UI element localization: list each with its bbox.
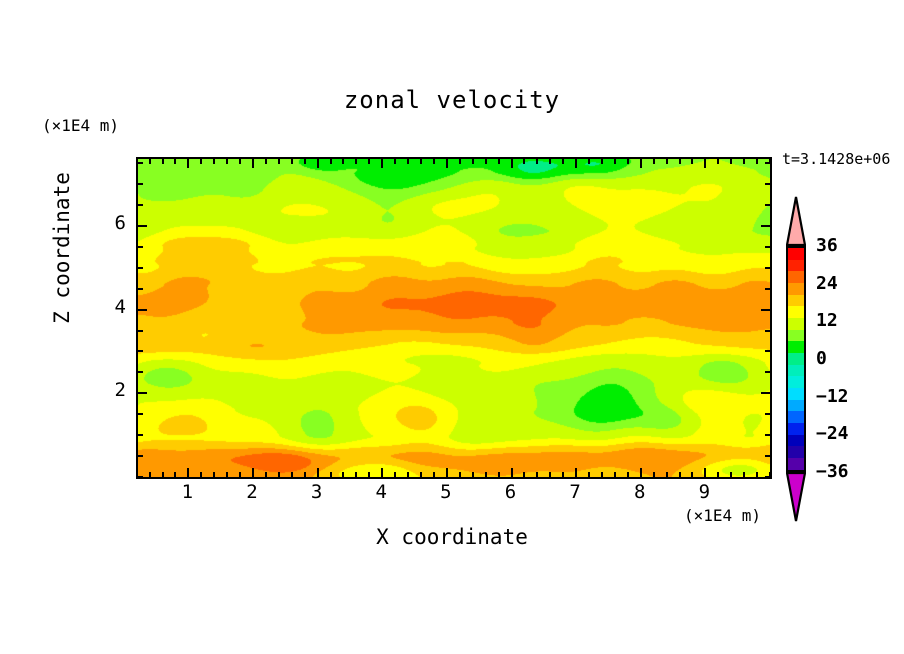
x-tick-minor	[614, 472, 616, 477]
y-tick-minor	[138, 330, 143, 332]
x-tick-major	[511, 468, 513, 477]
x-tick-minor	[653, 472, 655, 477]
x-tick-major	[575, 159, 577, 168]
x-tick-minor	[730, 472, 732, 477]
x-tick-major	[252, 159, 254, 168]
x-tick-minor	[342, 472, 344, 477]
x-tick-minor	[355, 472, 357, 477]
y-tick-minor	[138, 183, 143, 185]
colorbar-band	[788, 353, 804, 365]
x-tick-minor	[549, 472, 551, 477]
x-tick-minor	[355, 159, 357, 164]
x-tick-minor	[691, 472, 693, 477]
y-tick-major	[138, 225, 147, 227]
y-tick-minor	[138, 246, 143, 248]
x-tick-minor	[523, 159, 525, 164]
x-tick-minor	[149, 159, 151, 164]
x-tick-minor	[562, 472, 564, 477]
x-tick-major	[640, 468, 642, 477]
x-tick-major	[252, 468, 254, 477]
x-tick-minor	[756, 472, 758, 477]
x-tick-minor	[536, 472, 538, 477]
x-tick-minor	[588, 159, 590, 164]
x-tick-major	[381, 468, 383, 477]
x-tick-minor	[330, 159, 332, 164]
y-tick-major	[138, 392, 147, 394]
x-tick-minor	[162, 472, 164, 477]
y-tick-minor	[138, 162, 143, 164]
x-ticklabel: 9	[684, 481, 724, 503]
y-tick-minor	[765, 434, 770, 436]
x-tick-minor	[666, 472, 668, 477]
y-tick-minor	[138, 288, 143, 290]
x-tick-minor	[472, 159, 474, 164]
x-ticklabel: 4	[361, 481, 401, 503]
x-tick-major	[381, 159, 383, 168]
x-tick-minor	[394, 159, 396, 164]
y-ticklabel: 4	[86, 296, 126, 318]
y-tick-minor	[765, 267, 770, 269]
colorbar-band	[788, 306, 804, 318]
x-tick-minor	[498, 472, 500, 477]
contour-plot-area	[136, 157, 772, 479]
x-tick-minor	[485, 472, 487, 477]
x-ticklabel: 7	[555, 481, 595, 503]
x-tick-major	[511, 159, 513, 168]
x-tick-minor	[265, 159, 267, 164]
x-ticklabel: 1	[167, 481, 207, 503]
colorbar-band	[788, 330, 804, 342]
colorbar-band	[788, 435, 804, 447]
x-tick-minor	[549, 159, 551, 164]
page-title: zonal velocity	[0, 86, 904, 114]
x-tick-minor	[291, 472, 293, 477]
x-tick-minor	[304, 472, 306, 477]
x-tick-major	[446, 159, 448, 168]
x-tick-major	[446, 468, 448, 477]
y-tick-minor	[765, 162, 770, 164]
y-tick-major	[761, 392, 770, 394]
y-tick-minor	[138, 267, 143, 269]
x-tick-minor	[149, 472, 151, 477]
x-ticklabel: 2	[232, 481, 272, 503]
x-tick-minor	[200, 472, 202, 477]
x-tick-minor	[174, 159, 176, 164]
x-tick-minor	[666, 159, 668, 164]
x-tick-minor	[679, 472, 681, 477]
x-tick-minor	[342, 159, 344, 164]
x-tick-minor	[368, 472, 370, 477]
colorbar-band	[788, 271, 804, 283]
colorbar-ticklabel: −24	[816, 423, 849, 444]
x-tick-minor	[433, 159, 435, 164]
colorbar-band	[788, 423, 804, 435]
x-tick-minor	[627, 159, 629, 164]
colorbar-band	[788, 446, 804, 458]
colorbar-band	[788, 365, 804, 377]
x-tick-minor	[394, 472, 396, 477]
x-tick-minor	[627, 472, 629, 477]
y-tick-minor	[765, 183, 770, 185]
x-tick-minor	[679, 159, 681, 164]
colorbar-band	[788, 341, 804, 353]
x-tick-minor	[459, 472, 461, 477]
x-tick-minor	[523, 472, 525, 477]
x-tick-minor	[562, 159, 564, 164]
colorbar-band	[788, 376, 804, 388]
y-tick-minor	[765, 371, 770, 373]
colorbar-ticklabel: 12	[816, 310, 838, 331]
x-tick-major	[187, 468, 189, 477]
y-tick-minor	[765, 204, 770, 206]
x-tick-major	[704, 159, 706, 168]
x-tick-minor	[278, 159, 280, 164]
x-tick-minor	[653, 159, 655, 164]
y-ticklabel: 2	[86, 379, 126, 401]
x-tick-major	[704, 468, 706, 477]
colorbar-bands	[786, 246, 806, 472]
x-tick-minor	[162, 159, 164, 164]
x-tick-minor	[691, 159, 693, 164]
colorbar-ticklabel: 24	[816, 273, 838, 294]
x-tick-minor	[743, 472, 745, 477]
y-tick-minor	[765, 350, 770, 352]
colorbar-ticklabel: 0	[816, 348, 827, 369]
x-tick-minor	[368, 159, 370, 164]
x-tick-major	[317, 468, 319, 477]
colorbar-ticklabel: 36	[816, 235, 838, 256]
x-tick-minor	[226, 472, 228, 477]
y-tick-minor	[138, 371, 143, 373]
x-tick-major	[640, 159, 642, 168]
colorbar-band	[788, 318, 804, 330]
x-tick-minor	[485, 159, 487, 164]
x-tick-minor	[200, 159, 202, 164]
x-tick-minor	[265, 472, 267, 477]
y-tick-minor	[138, 476, 143, 478]
contour-field	[138, 159, 770, 477]
x-tick-minor	[433, 472, 435, 477]
x-tick-minor	[588, 472, 590, 477]
x-tick-minor	[601, 159, 603, 164]
x-tick-minor	[239, 472, 241, 477]
x-tick-minor	[407, 472, 409, 477]
y-tick-major	[761, 225, 770, 227]
y-tick-major	[138, 309, 147, 311]
x-tick-minor	[239, 159, 241, 164]
x-tick-major	[317, 159, 319, 168]
x-tick-minor	[304, 159, 306, 164]
colorbar-band	[788, 400, 804, 412]
colorbar: 3624120−12−24−36	[780, 196, 812, 522]
y-tick-minor	[765, 246, 770, 248]
y-tick-minor	[765, 330, 770, 332]
x-tick-minor	[717, 159, 719, 164]
x-tick-minor	[420, 159, 422, 164]
x-tick-minor	[213, 159, 215, 164]
y-tick-minor	[138, 413, 143, 415]
colorbar-band	[788, 458, 804, 470]
y-tick-minor	[765, 455, 770, 457]
x-tick-minor	[743, 159, 745, 164]
colorbar-band	[788, 388, 804, 400]
x-tick-minor	[330, 472, 332, 477]
y-axis-title: Z coordinate	[50, 158, 74, 338]
x-tick-minor	[407, 159, 409, 164]
y-tick-minor	[138, 434, 143, 436]
colorbar-ticklabel: −12	[816, 386, 849, 407]
y-tick-minor	[765, 413, 770, 415]
y-ticklabel: 6	[86, 212, 126, 234]
y-axis-unit-label: (×1E4 m)	[42, 116, 119, 135]
x-axis-unit-label: (×1E4 m)	[684, 506, 761, 525]
x-ticklabel: 5	[426, 481, 466, 503]
colorbar-band	[788, 283, 804, 295]
x-tick-minor	[614, 159, 616, 164]
y-tick-minor	[138, 204, 143, 206]
y-tick-minor	[765, 476, 770, 478]
x-tick-minor	[472, 472, 474, 477]
x-tick-minor	[536, 159, 538, 164]
y-tick-minor	[138, 455, 143, 457]
x-tick-minor	[174, 472, 176, 477]
x-tick-minor	[278, 472, 280, 477]
colorbar-overflow-cap-top	[786, 196, 806, 246]
x-tick-minor	[498, 159, 500, 164]
x-tick-minor	[717, 472, 719, 477]
x-tick-major	[187, 159, 189, 168]
x-ticklabel: 8	[620, 481, 660, 503]
time-annotation: t=3.1428e+06	[782, 150, 890, 168]
colorbar-band	[788, 295, 804, 307]
x-tick-minor	[226, 159, 228, 164]
x-tick-major	[575, 468, 577, 477]
x-ticklabel: 3	[297, 481, 337, 503]
colorbar-band	[788, 260, 804, 272]
colorbar-ticklabel: −36	[816, 461, 849, 482]
x-tick-minor	[459, 159, 461, 164]
x-tick-minor	[291, 159, 293, 164]
y-tick-minor	[765, 288, 770, 290]
colorbar-overflow-cap-bottom	[786, 472, 806, 522]
colorbar-band	[788, 248, 804, 260]
x-tick-minor	[601, 472, 603, 477]
x-tick-minor	[420, 472, 422, 477]
x-axis-title: X coordinate	[0, 525, 904, 549]
x-ticklabel: 6	[491, 481, 531, 503]
x-tick-minor	[213, 472, 215, 477]
y-tick-major	[761, 309, 770, 311]
x-tick-minor	[756, 159, 758, 164]
colorbar-band	[788, 411, 804, 423]
x-tick-minor	[730, 159, 732, 164]
y-tick-minor	[138, 350, 143, 352]
